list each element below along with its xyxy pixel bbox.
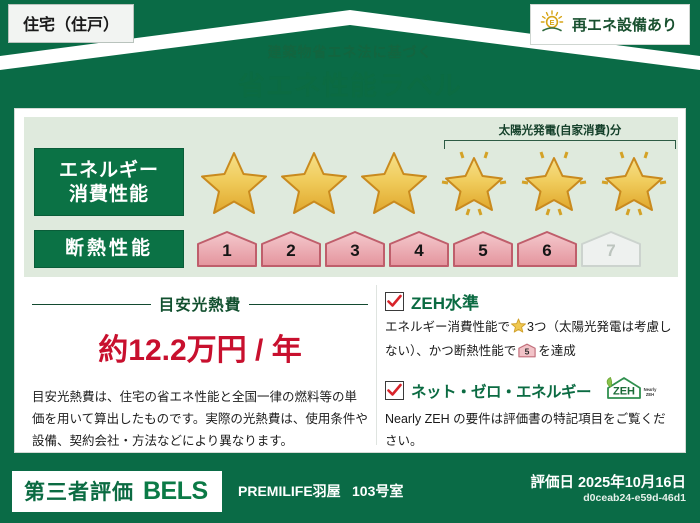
star-filled-3 bbox=[356, 146, 432, 218]
insulation-level-value: 2 bbox=[260, 241, 322, 261]
utility-cost-heading: 目安光熱費 bbox=[32, 293, 368, 315]
insulation-level-value: 6 bbox=[516, 241, 578, 261]
solar-bracket-label: 太陽光発電(自家消費)分 bbox=[444, 122, 676, 138]
insulation-badge-3: 3 bbox=[324, 230, 386, 268]
utility-cost-value: 約12.2万円 / 年 bbox=[32, 325, 368, 369]
insulation-badge-7: 7 bbox=[580, 230, 642, 268]
utility-cost-heading-text: 目安光熱費 bbox=[159, 293, 242, 315]
lower-section: 目安光熱費 約12.2万円 / 年 目安光熱費は、住宅の省エネ性能と全国一律の燃… bbox=[24, 285, 678, 445]
insulation-level-value: 4 bbox=[388, 241, 450, 261]
certification-column: ZEH水準 エネルギー消費性能で3つ（太陽光発電は考慮しない）、かつ断熱性能で5… bbox=[376, 285, 678, 445]
star-solar-6 bbox=[596, 146, 672, 218]
star-solar-4 bbox=[436, 146, 512, 218]
check-title-zeh-standard: ZEH水準 bbox=[411, 289, 479, 314]
insulation-level-value: 5 bbox=[452, 241, 514, 261]
insulation-level-badges: 1 2 3 bbox=[196, 230, 642, 268]
star-solar-5 bbox=[516, 146, 592, 218]
sun-solar-icon: E bbox=[539, 10, 565, 39]
insulation-level-value: 1 bbox=[196, 241, 258, 261]
insulation-badge-5: 5 bbox=[452, 230, 514, 268]
bels-jp-label: 第三者評価 bbox=[24, 476, 134, 506]
main-content-card: 太陽光発電(自家消費)分 エネルギー 消費性能 bbox=[14, 108, 686, 453]
check-header: ネット・ゼロ・エネルギー ZEH Nearly ZEH bbox=[385, 375, 674, 406]
energy-label-line1: エネルギー bbox=[35, 159, 183, 183]
energy-star-rating bbox=[196, 146, 672, 218]
svg-text:5: 5 bbox=[525, 346, 530, 356]
solar-generation-bracket: 太陽光発電(自家消費)分 bbox=[444, 122, 676, 149]
heading-rule-left bbox=[32, 304, 151, 305]
inline-star-icon bbox=[511, 322, 526, 336]
performance-band: 太陽光発電(自家消費)分 エネルギー 消費性能 bbox=[24, 117, 678, 277]
utility-cost-column: 目安光熱費 約12.2万円 / 年 目安光熱費は、住宅の省エネ性能と全国一律の燃… bbox=[24, 285, 376, 445]
label-title-block: 建築物省エネ法に基づく 省エネ性能ラベル bbox=[0, 42, 700, 103]
star-filled-2 bbox=[276, 146, 352, 218]
insulation-performance-row: 断熱性能 1 bbox=[24, 229, 678, 269]
insulation-performance-label: 断熱性能 bbox=[34, 230, 184, 268]
check-item-net-zero-energy: ネット・ゼロ・エネルギー ZEH Nearly ZEH Nearly ZEH の… bbox=[385, 375, 674, 452]
page-title: 省エネ性能ラベル bbox=[0, 64, 700, 103]
insulation-level-value: 7 bbox=[580, 241, 642, 261]
footer-bar: 第三者評価 BELS PREMILIFE羽屋 103号室 評価日 2025年10… bbox=[0, 461, 700, 523]
check-body-net-zero-energy: Nearly ZEH の要件は評価書の特記項目をご覧ください。 bbox=[385, 409, 674, 452]
housing-type-tab: 住宅（住戸） bbox=[8, 4, 134, 43]
renewable-energy-label: 再エネ設備あり bbox=[572, 14, 677, 35]
check-header: ZEH水準 bbox=[385, 289, 674, 314]
evaluation-date: 評価日 2025年10月16日 bbox=[530, 471, 686, 492]
insulation-badge-6: 6 bbox=[516, 230, 578, 268]
evaluation-date-label: 評価日 bbox=[530, 475, 574, 491]
svg-text:ZEH: ZEH bbox=[613, 386, 635, 398]
energy-performance-label: エネルギー 消費性能 bbox=[34, 148, 184, 216]
bracket-line bbox=[444, 140, 676, 149]
check-title-net-zero-energy: ネット・ゼロ・エネルギー bbox=[411, 380, 591, 402]
check-item-zeh-standard: ZEH水準 エネルギー消費性能で3つ（太陽光発電は考慮しない）、かつ断熱性能で5… bbox=[385, 289, 674, 365]
zeh-body-post: を達成 bbox=[538, 344, 576, 358]
checkbox-checked-icon bbox=[385, 292, 404, 311]
svg-text:E: E bbox=[549, 18, 554, 27]
evaluation-id: d0ceab24-e59d-46d1 bbox=[583, 492, 686, 504]
bels-en-label: BELS bbox=[143, 477, 208, 506]
room-number: 103号室 bbox=[352, 481, 403, 501]
check-body-zeh-standard: エネルギー消費性能で3つ（太陽光発電は考慮しない）、かつ断熱性能で5を達成 bbox=[385, 317, 674, 365]
renewable-energy-badge: E 再エネ設備あり bbox=[530, 4, 690, 45]
insulation-level-value: 3 bbox=[324, 241, 386, 261]
zeh-house-logo-icon: ZEH Nearly ZEH bbox=[602, 375, 660, 406]
utility-cost-note: 目安光熱費は、住宅の省エネ性能と全国一律の燃料等の単価を用いて算出したものです。… bbox=[32, 387, 368, 453]
heading-rule-right bbox=[249, 304, 368, 305]
star-filled-1 bbox=[196, 146, 272, 218]
checkbox-checked-icon bbox=[385, 381, 404, 400]
svg-text:ZEH: ZEH bbox=[646, 392, 654, 397]
energy-performance-row: エネルギー 消費性能 bbox=[24, 145, 678, 219]
bels-energy-label: 住宅（住戸） E 再エネ設備あり 建築物省エネ法に基づく bbox=[0, 0, 700, 523]
evaluation-date-value: 2025年10月16日 bbox=[578, 475, 686, 491]
building-name: PREMILIFE羽屋 bbox=[238, 481, 341, 501]
insulation-badge-2: 2 bbox=[260, 230, 322, 268]
bels-certification-badge: 第三者評価 BELS bbox=[12, 471, 222, 512]
inline-insulation-badge-icon: 5 bbox=[518, 347, 536, 361]
insulation-badge-4: 4 bbox=[388, 230, 450, 268]
title-subtitle: 建築物省エネ法に基づく bbox=[0, 42, 700, 62]
insulation-badge-1: 1 bbox=[196, 230, 258, 268]
zeh-body-pre: エネルギー消費性能で bbox=[385, 320, 510, 334]
energy-label-line2: 消費性能 bbox=[35, 183, 183, 207]
